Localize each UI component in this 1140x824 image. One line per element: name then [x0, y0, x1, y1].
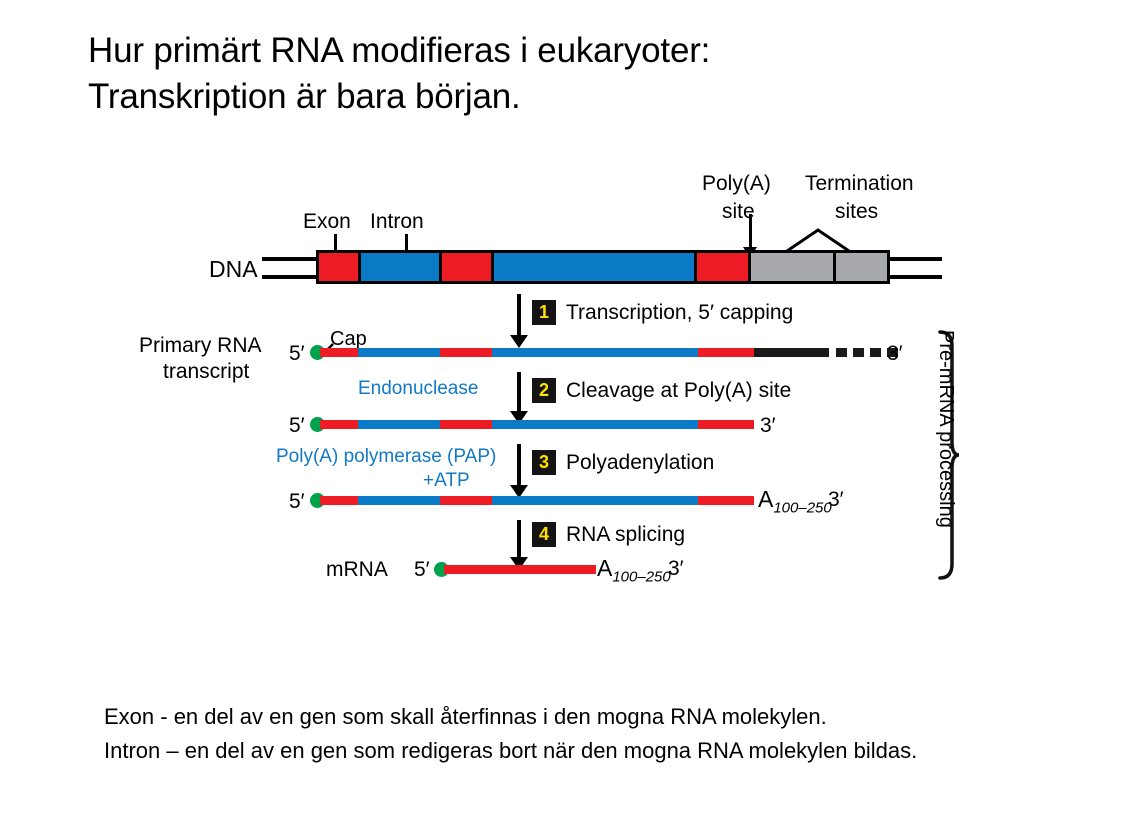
- row1-five-prime: 5′: [289, 342, 305, 366]
- step-2-badge: 2: [532, 378, 556, 403]
- pre-mrna-processing-label: Pre-mRNA processing: [707, 330, 957, 580]
- cleaved-rna-row: [320, 420, 754, 429]
- primary-rna-label-line-2: transcript: [163, 360, 249, 384]
- row4-polya-tail: A100–250: [597, 555, 671, 586]
- row4-five-prime: 5′: [414, 558, 430, 582]
- step-1-label: Transcription, 5′ capping: [566, 301, 793, 325]
- rna1-intron-1: [358, 348, 440, 357]
- termination-label-line-2: sites: [835, 200, 878, 224]
- pap-label: Poly(A) polymerase (PAP): [276, 446, 496, 468]
- title-line-1: Hur primärt RNA modifieras i eukaryoter:: [88, 28, 948, 74]
- dna-termination-region-2: [833, 253, 887, 281]
- polya-site-label-line-1: Poly(A): [702, 172, 771, 196]
- rna3-exon-2: [440, 496, 492, 505]
- step-4-badge: 4: [532, 522, 556, 547]
- dna-intron-1: [358, 253, 439, 281]
- rna1-exon-1: [320, 348, 358, 357]
- dna-exon-2: [439, 253, 491, 281]
- exon-label: Exon: [303, 210, 351, 234]
- slide: Hur primärt RNA modifieras i eukaryoter:…: [0, 0, 1140, 824]
- row2-five-prime: 5′: [289, 414, 305, 438]
- rna3-intron-2: [492, 496, 698, 505]
- step-3-arrow: [517, 444, 521, 486]
- dna-strand-right-top: [886, 257, 942, 261]
- exon-definition: Exon - en del av en gen som skall återfi…: [104, 700, 1064, 734]
- step-4-arrow: [517, 520, 521, 558]
- rna2-intron-1: [358, 420, 440, 429]
- rna-processing-diagram: Exon Intron Poly(A) site Termination sit…: [0, 150, 1140, 620]
- rna2-exon-2: [440, 420, 492, 429]
- dna-gene-bar: [316, 250, 890, 284]
- rna4-exons-joined: [444, 565, 596, 574]
- step-2-arrow: [517, 372, 521, 412]
- rna3-exon-1: [320, 496, 358, 505]
- polyadenylated-rna-row: [320, 496, 754, 505]
- row4-three-prime: 3′: [668, 557, 684, 581]
- dna-intron-2: [491, 253, 694, 281]
- rna3-intron-1: [358, 496, 440, 505]
- atp-label: +ATP: [423, 470, 470, 492]
- row4-polya-base: A: [597, 555, 612, 581]
- definitions-block: Exon - en del av en gen som skall återfi…: [104, 700, 1064, 768]
- rna1-exon-2: [440, 348, 492, 357]
- intron-definition: Intron – en del av en gen som redigeras …: [104, 734, 1064, 768]
- title-line-2: Transkription är bara början.: [88, 74, 948, 120]
- primary-rna-label-line-1: Primary RNA: [139, 334, 262, 358]
- intron-label: Intron: [370, 210, 424, 234]
- row4-polya-sub: 100–250: [612, 569, 670, 586]
- rna2-exon-1: [320, 420, 358, 429]
- dna-label: DNA: [209, 256, 258, 283]
- page-title: Hur primärt RNA modifieras i eukaryoter:…: [88, 28, 948, 120]
- step-1-badge: 1: [532, 300, 556, 325]
- endonuclease-label: Endonuclease: [358, 378, 478, 400]
- mature-mrna-row: [444, 565, 596, 574]
- rna2-intron-2: [492, 420, 698, 429]
- dna-termination-region-1: [748, 253, 832, 281]
- termination-sites-tent-icon: [786, 228, 850, 252]
- dna-strand-left-top: [262, 257, 320, 261]
- rna1-intron-2: [492, 348, 698, 357]
- termination-label-line-1: Termination: [805, 172, 914, 196]
- dna-exon-3: [694, 253, 748, 281]
- step-4-label: RNA splicing: [566, 523, 685, 547]
- step-1-arrow: [517, 294, 521, 336]
- dna-strand-right-bottom: [886, 275, 942, 279]
- dna-strand-left-bottom: [262, 275, 320, 279]
- row3-five-prime: 5′: [289, 490, 305, 514]
- step-3-label: Polyadenylation: [566, 451, 714, 475]
- mrna-label: mRNA: [326, 558, 388, 582]
- polya-site-arrow: [749, 214, 752, 248]
- step-3-badge: 3: [532, 450, 556, 475]
- dna-exon-1: [319, 253, 358, 281]
